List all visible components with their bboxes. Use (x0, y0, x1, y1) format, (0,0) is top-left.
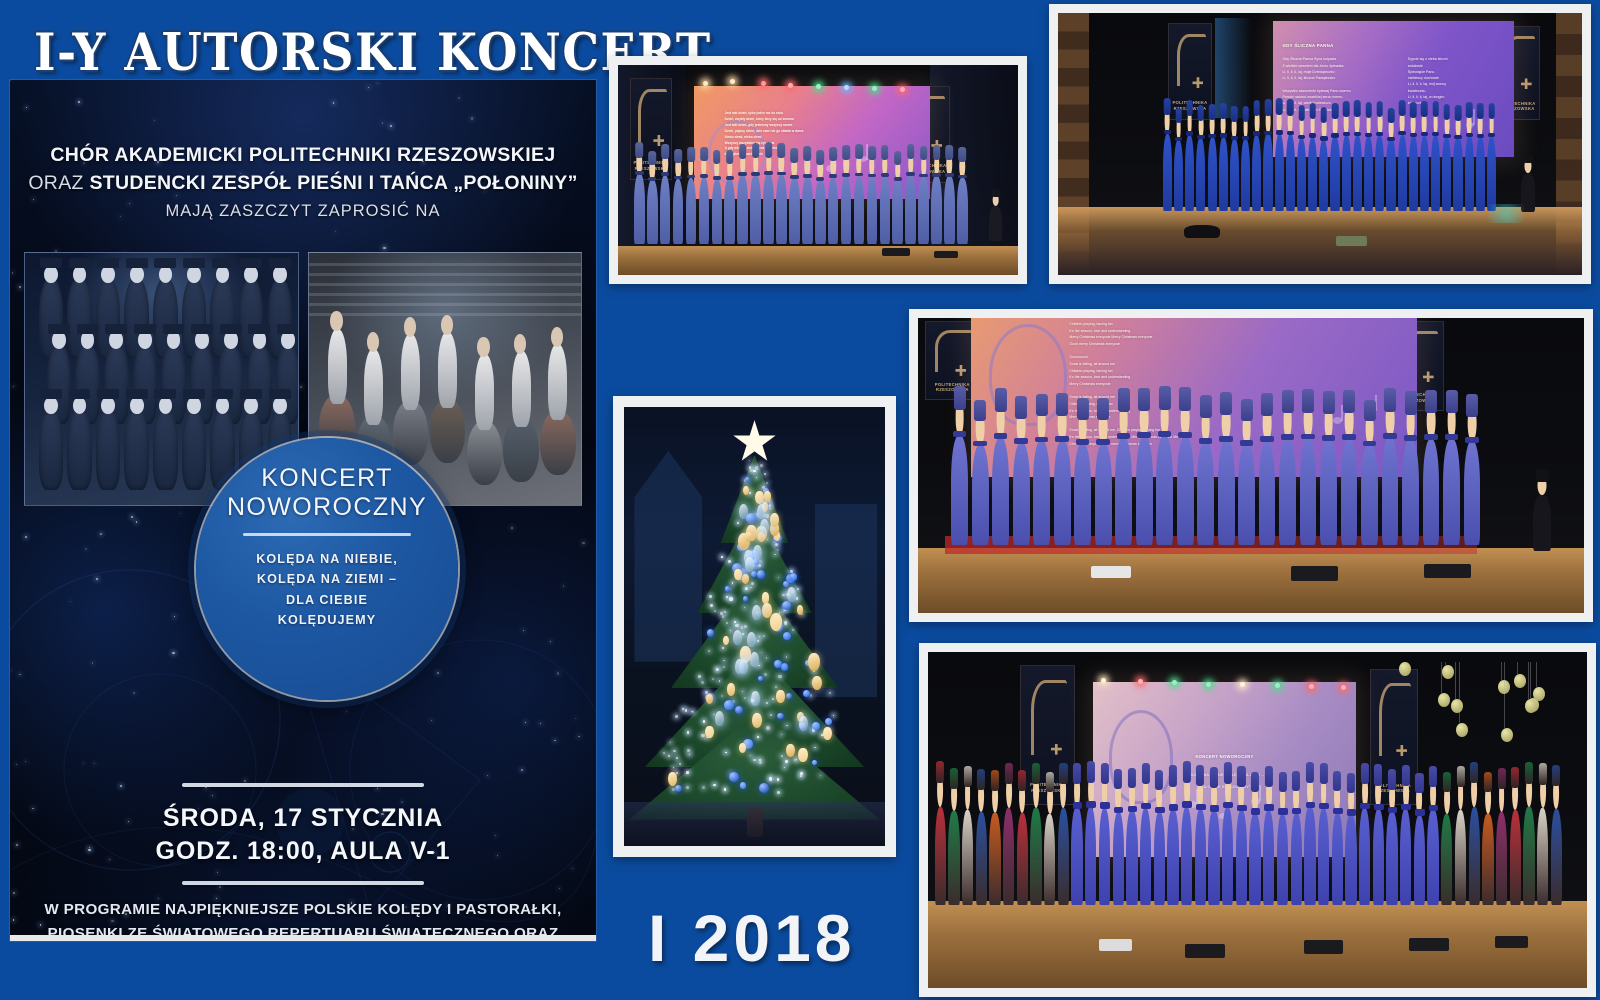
emblem-divider (243, 533, 411, 536)
stage-monitor (1424, 564, 1471, 577)
poster-org-line-3: MAJĄ ZASZCZYT ZAPROSIĆ NA (10, 202, 596, 221)
stage-monitor (1495, 936, 1528, 947)
poster-divider-top (182, 783, 424, 787)
photo-frame-christmas-tree (613, 396, 896, 857)
emblem-subtitle: KOLĘDA NA NIEBIE, KOLĘDA NA ZIEMI – DLA … (256, 549, 398, 631)
emblem-title-line-2: NOWOROCZNY (227, 493, 427, 522)
poster-program-line-2: PIOSENKI ZE ŚWIATOWEGO REPERTUARU ŚWIĄTE… (36, 922, 570, 941)
banner-text-left: POLITECHNIKA RZESZOWSKA (929, 382, 976, 393)
stage-monitor (1409, 938, 1449, 951)
stage-monitor (1184, 225, 1221, 238)
photo-frame-finale: POLITECHNIKA RZESZOWSKA POLITECHNIKA RZE… (919, 643, 1596, 997)
photo-mid-right-image: POLITECHNIKA RZESZOWSKA POLITECHNIKA RZE… (918, 318, 1584, 613)
poster-org-line-2: ORAZ STUDENCKI ZESPÓŁ PIEŚNI I TAŃCA „PO… (10, 172, 596, 195)
poster-org-line-2-bold: STUDENCKI ZESPÓŁ PIEŚNI I TAŃCA „POŁONIN… (89, 172, 577, 194)
tree-decorations (624, 407, 885, 846)
poster-when-time: GODZ. 18:00, AULA V-1 (10, 835, 596, 868)
screen-title-bottom-right: KONCERT NOWOROCZNY (1093, 754, 1357, 759)
photo-bottom-right-image: POLITECHNIKA RZESZOWSKA POLITECHNIKA RZE… (928, 652, 1587, 988)
pr-logo-icon (1031, 680, 1068, 755)
photo-frame-choir-english-lyrics: POLITECHNIKA RZESZOWSKA POLITECHNIKA RZE… (909, 309, 1593, 622)
concert-poster: CHÓR AKADEMICKI POLITECHNIKI RZESZOWSKIE… (10, 80, 596, 941)
collage-canvas: I-Y AUTORSKI KONCERT CHÓR AKADEMICKI POL… (0, 0, 1600, 1000)
stage-light-bar (1093, 672, 1357, 685)
stage-floor (918, 548, 1584, 613)
stage-monitor (1336, 236, 1367, 246)
choir-group (1163, 134, 1498, 218)
music-note-icon (1333, 417, 1342, 424)
night-sky-background (624, 407, 885, 846)
stage-monitor (1185, 944, 1225, 957)
stage-light-bar (698, 78, 930, 89)
poster-program: W PROGRAMIE NAJPIĘKNIEJSZE POLSKIE KOLĘD… (36, 898, 570, 941)
photo-tree-image (624, 407, 885, 846)
poster-org-line-1: CHÓR AKADEMICKI POLITECHNIKI RZESZOWSKIE… (10, 144, 596, 167)
emblem-title: KONCERT NOWOROCZNY (227, 464, 427, 521)
stage-monitor (1304, 940, 1344, 954)
stage-floor (618, 246, 1018, 275)
poster-emblem: KONCERT NOWOROCZNY KOLĘDA NA NIEBIE, KOL… (196, 438, 458, 700)
stage-monitor (882, 248, 910, 256)
photo-frame-choir-purple-screen: POLITECHNIKA RZESZOWSKA POLITECHNIKA RZE… (1049, 4, 1591, 284)
conductor (989, 206, 1002, 242)
pr-logo-icon (638, 89, 667, 144)
emblem-subtitle-line-1: KOLĘDA NA NIEBIE, (256, 549, 398, 569)
emblem-title-line-1: KONCERT (227, 464, 427, 493)
stage-monitor (1099, 939, 1132, 951)
year-label: I 2018 (648, 900, 856, 976)
poster-when-date: ŚRODA, 17 STYCZNIA (10, 802, 596, 835)
emblem-subtitle-line-4: KOLĘDUJEMY (256, 610, 398, 630)
pr-logo-icon (935, 330, 972, 373)
screen-lyrics-column-right: Sypcie się z nieba ślicznianiołowieŚpiew… (1408, 56, 1448, 106)
photo-frame-choir-warm-screen: POLITECHNIKA RZESZOWSKA POLITECHNIKA RZE… (609, 56, 1027, 284)
performers-group (935, 807, 1581, 915)
stage-monitor (934, 251, 958, 258)
photo-top-left-image: POLITECHNIKA RZESZOWSKA POLITECHNIKA RZE… (618, 65, 1018, 275)
screen-title-top-right: GDY ŚLICZNA PANNA (1282, 43, 1333, 48)
hanging-ornaments (1402, 662, 1560, 756)
poster-program-line-1: W PROGRAMIE NAJPIĘKNIEJSZE POLSKIE KOLĘD… (36, 898, 570, 922)
poster-when: ŚRODA, 17 STYCZNIA GODZ. 18:00, AULA V-1 (10, 802, 596, 868)
choir-group (634, 174, 970, 250)
pr-logo-icon (1177, 34, 1207, 86)
stage-monitor (1091, 566, 1131, 578)
poster-org-line-2-prefix: ORAZ (28, 172, 89, 194)
choir-group (951, 436, 1484, 554)
teal-stage-light (1488, 204, 1525, 222)
poster-divider-bottom (182, 881, 424, 885)
photo-top-right-image: POLITECHNIKA RZESZOWSKA POLITECHNIKA RZE… (1058, 13, 1582, 275)
stage-monitor (1291, 566, 1338, 581)
emblem-subtitle-line-3: DLA CIEBIE (256, 590, 398, 610)
emblem-subtitle-line-2: KOLĘDA NA ZIEMI – (256, 569, 398, 589)
conductor (1533, 495, 1550, 551)
